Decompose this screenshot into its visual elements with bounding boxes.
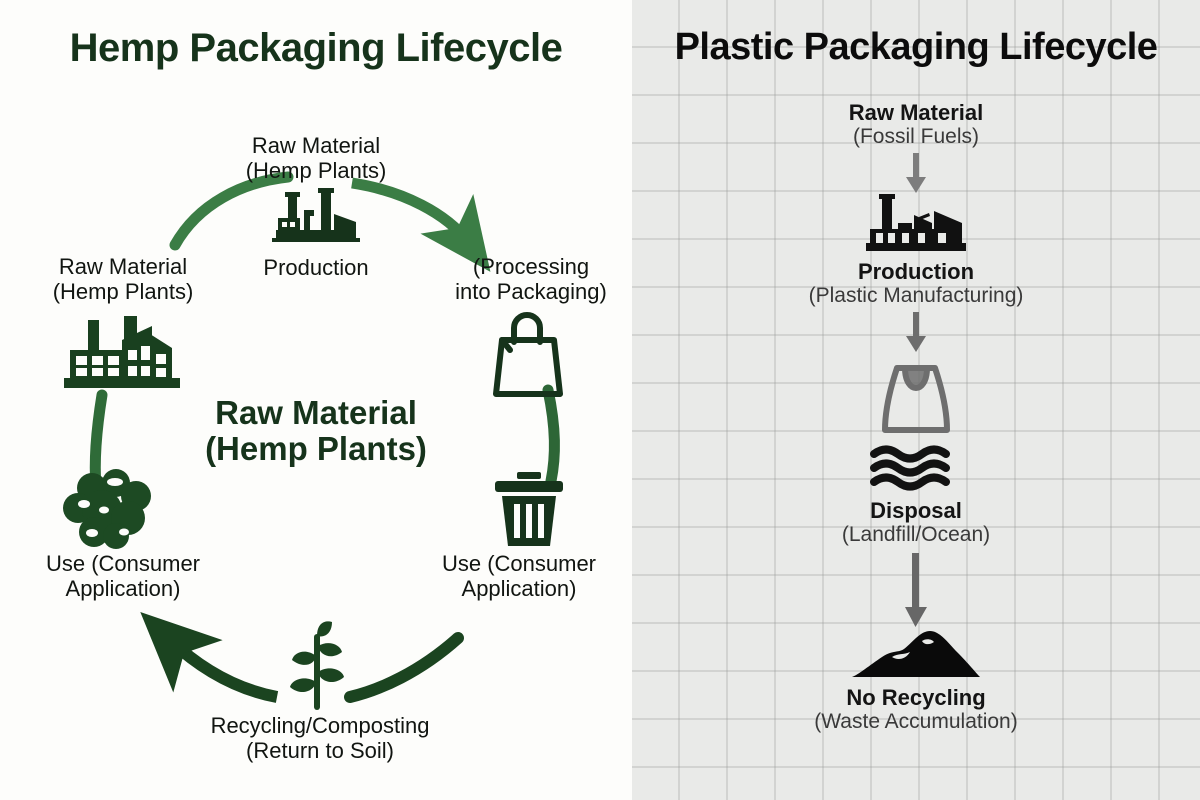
label-line-2: (Hemp Plants) — [12, 280, 234, 305]
flow-step-packaging — [877, 352, 955, 436]
step-heading: Production — [858, 259, 974, 284]
step-subtitle: (Waste Accumulation) — [814, 710, 1017, 734]
waste-pile-icon — [848, 627, 984, 681]
label-line-2: Application) — [408, 577, 630, 602]
node-label-use-right: Use (Consumer Application) — [408, 552, 630, 601]
step-subtitle: (Fossil Fuels) — [853, 125, 979, 149]
down-arrow-icon-2 — [903, 312, 929, 352]
label-line-1: (Processing — [430, 255, 632, 280]
label-line-1: Use (Consumer — [12, 552, 234, 577]
plastic-lifecycle-panel: Plastic Packaging Lifecycle Raw Material… — [632, 0, 1200, 800]
down-arrow-icon-3 — [901, 553, 931, 627]
node-label-production: Production — [236, 256, 396, 281]
label-line-2: (Return to Soil) — [160, 739, 480, 764]
label-line-1: Raw Material — [12, 255, 234, 280]
step-heading: No Recycling — [846, 685, 985, 710]
plastic-bag-icon — [877, 352, 955, 436]
waves-icon — [868, 444, 964, 492]
flow-step-raw-material: Raw Material (Fossil Fuels) — [849, 100, 984, 149]
node-label-raw-material-top: Raw Material (Hemp Plants) — [186, 134, 446, 183]
node-label-use-left: Use (Consumer Application) — [12, 552, 234, 601]
step-heading: Raw Material — [849, 100, 984, 125]
node-label-recycling: Recycling/Composting (Return to Soil) — [160, 714, 480, 763]
label-line-2: Application) — [12, 577, 234, 602]
label-line-2: (Hemp Plants) — [186, 159, 446, 184]
node-label-raw-material-left: Raw Material (Hemp Plants) — [12, 255, 234, 304]
label-line-1: Recycling/Composting — [160, 714, 480, 739]
shopping-bag-icon — [486, 312, 570, 400]
center-line-1: Raw Material — [0, 395, 632, 431]
refinery-icon — [266, 188, 366, 250]
step-heading: Disposal — [870, 498, 962, 523]
center-line-2: (Hemp Plants) — [0, 431, 632, 467]
flow-step-disposal: Disposal (Landfill/Ocean) — [842, 436, 990, 547]
down-arrow-icon-1 — [903, 153, 929, 193]
label-line-1: Use (Consumer — [408, 552, 630, 577]
step-subtitle: (Plastic Manufacturing) — [809, 284, 1024, 308]
infographic-canvas: Hemp Packaging Lifecycle — [0, 0, 1200, 800]
plastic-panel-title: Plastic Packaging Lifecycle — [632, 26, 1200, 69]
seedling-icon — [274, 620, 360, 712]
compost-cluster-icon — [58, 466, 162, 552]
factory-icon — [862, 193, 970, 255]
flow-step-no-recycling: No Recycling (Waste Accumulation) — [814, 627, 1017, 734]
label-line-1: Raw Material — [186, 134, 446, 159]
trash-bin-icon — [489, 470, 569, 550]
label-line-2: into Packaging) — [430, 280, 632, 305]
plastic-flow-chart: Raw Material (Fossil Fuels) — [632, 100, 1200, 734]
step-subtitle: (Landfill/Ocean) — [842, 523, 990, 547]
factory-icon — [62, 316, 182, 392]
node-label-processing: (Processing into Packaging) — [430, 255, 632, 304]
hemp-lifecycle-panel: Hemp Packaging Lifecycle — [0, 0, 632, 800]
flow-step-production: Production (Plastic Manufacturing) — [809, 193, 1024, 308]
hemp-center-label: Raw Material (Hemp Plants) — [0, 395, 632, 468]
label-line-1: Production — [236, 256, 396, 281]
